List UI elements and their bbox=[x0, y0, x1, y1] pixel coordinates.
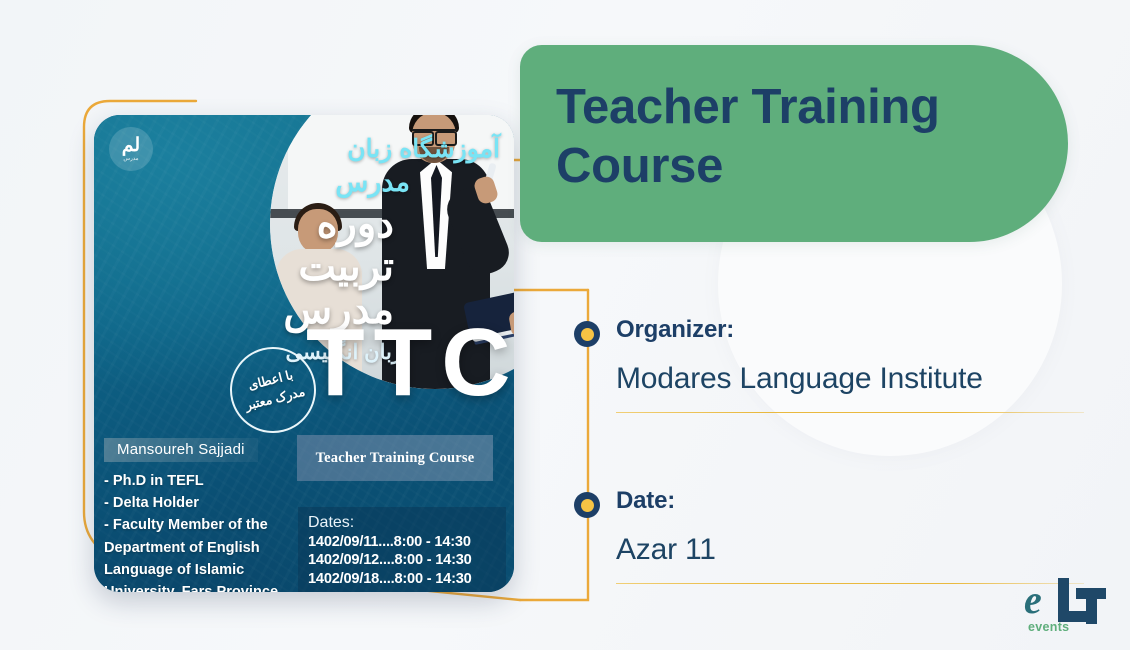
poster-speaker-credentials: - Ph.D in TEFL - Delta Holder - Faculty … bbox=[104, 470, 304, 592]
bullet-marker-icon bbox=[574, 492, 600, 518]
poster-dates-box: Dates: 1402/09/11....8:00 - 14:30 1402/0… bbox=[298, 507, 506, 592]
date-divider bbox=[616, 583, 1084, 584]
detail-organizer: Organizer: Modares Language Institute bbox=[588, 316, 1088, 413]
logo-letters-lt bbox=[1050, 578, 1108, 624]
organizer-divider bbox=[616, 412, 1084, 413]
event-title-banner: Teacher Training Course bbox=[520, 45, 1068, 242]
poster-acronym-band: Teacher Training Course bbox=[297, 435, 493, 481]
page-title: Teacher Training Course bbox=[556, 78, 1046, 196]
poster-acronym-band-label: Teacher Training Course bbox=[316, 450, 475, 467]
elt-events-logo[interactable]: e events bbox=[1020, 580, 1112, 638]
event-poster-image[interactable]: لم مدرس آموزشگاه زبان مدرس دوره تربیت مد… bbox=[94, 115, 514, 592]
organizer-value: Modares Language Institute bbox=[616, 362, 1088, 396]
poster-acronym: TTC bbox=[306, 315, 514, 411]
date-label: Date: bbox=[616, 487, 1088, 515]
poster-foreground: لم مدرس آموزشگاه زبان مدرس دوره تربیت مد… bbox=[94, 115, 514, 592]
logo-letter-e: e bbox=[1024, 580, 1042, 620]
modares-logo-sub: مدرس bbox=[123, 157, 138, 163]
bullet-marker-icon bbox=[574, 321, 600, 347]
poster-page: لم مدرس آموزشگاه زبان مدرس دوره تربیت مد… bbox=[0, 0, 1130, 650]
organizer-label: Organizer: bbox=[616, 316, 1088, 344]
logo-caption: events bbox=[1028, 620, 1069, 634]
poster-dates-list: 1402/09/11....8:00 - 14:30 1402/09/12...… bbox=[308, 533, 500, 588]
poster-speaker-name: Mansoureh Sajjadi bbox=[104, 438, 258, 462]
poster-dates-heading: Dates: bbox=[308, 514, 500, 532]
modares-logo-badge: لم مدرس bbox=[109, 127, 153, 171]
poster-institute-line1: آموزشگاه زبان bbox=[347, 135, 500, 163]
modares-logo-glyph: لم bbox=[122, 136, 140, 155]
poster-institute-line2: مدرس bbox=[335, 167, 410, 198]
date-value: Azar 11 bbox=[616, 533, 1088, 567]
detail-date: Date: Azar 11 bbox=[588, 487, 1088, 584]
